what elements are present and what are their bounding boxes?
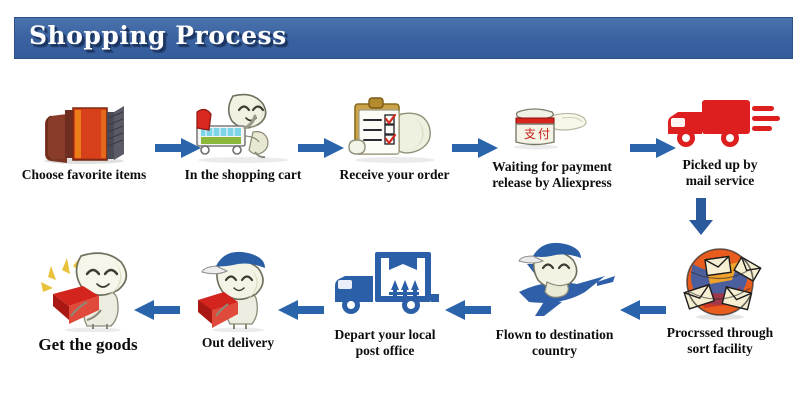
step-label: Depart your local post office xyxy=(310,327,460,358)
step-out-delivery[interactable]: Out delivery xyxy=(168,248,308,351)
step-receive-your-order[interactable]: Receive your order xyxy=(322,92,467,183)
page-title: Shopping Process xyxy=(29,21,287,50)
step-label: Choose favorite items xyxy=(4,167,164,183)
step-depart-your-local-post-office[interactable]: Depart your local post office xyxy=(310,248,460,358)
step-label: Picked up by mail service xyxy=(645,157,795,188)
arrow-step5-to-step6 xyxy=(688,198,714,236)
globe-with-envelopes-icon xyxy=(645,240,795,322)
step-label: Receive your order xyxy=(322,167,467,183)
courier-character-icon xyxy=(168,248,308,332)
step-get-the-goods[interactable]: Get the goods xyxy=(8,244,168,354)
red-delivery-truck-icon xyxy=(645,92,795,154)
step-processed-through-sort-facility[interactable]: Procrssed through sort facility xyxy=(645,240,795,356)
step-label: Procrssed through sort facility xyxy=(645,325,795,356)
step-label: Out delivery xyxy=(168,335,308,351)
payment-stamp-icon: 支 付 xyxy=(472,100,632,156)
stamp-characters: 支 xyxy=(524,127,536,141)
blue-box-truck-icon xyxy=(310,248,460,324)
step-waiting-for-payment[interactable]: 支 付 Waiting for payment release by Aliex… xyxy=(472,100,632,190)
books-binders-icon xyxy=(4,98,164,164)
step-label: Waiting for payment release by Aliexpres… xyxy=(472,159,632,190)
step-label: In the shopping cart xyxy=(168,167,318,183)
character-pushing-cart-icon xyxy=(168,90,318,164)
step-flown-to-destination-country[interactable]: Flown to destination country xyxy=(472,238,637,358)
step-in-the-shopping-cart[interactable]: In the shopping cart xyxy=(168,90,318,183)
header-banner: Shopping Process xyxy=(14,17,793,59)
clipboard-checklist-icon xyxy=(322,92,467,164)
svg-text:付: 付 xyxy=(538,127,550,141)
step-label: Get the goods xyxy=(8,335,168,354)
character-on-airplane-icon xyxy=(472,238,637,324)
step-label: Flown to destination country xyxy=(472,327,637,358)
step-picked-up-by-mail-service[interactable]: Picked up by mail service xyxy=(645,92,795,188)
step-choose-favorite-items[interactable]: Choose favorite items xyxy=(4,98,164,183)
happy-character-with-package-icon xyxy=(8,244,168,332)
